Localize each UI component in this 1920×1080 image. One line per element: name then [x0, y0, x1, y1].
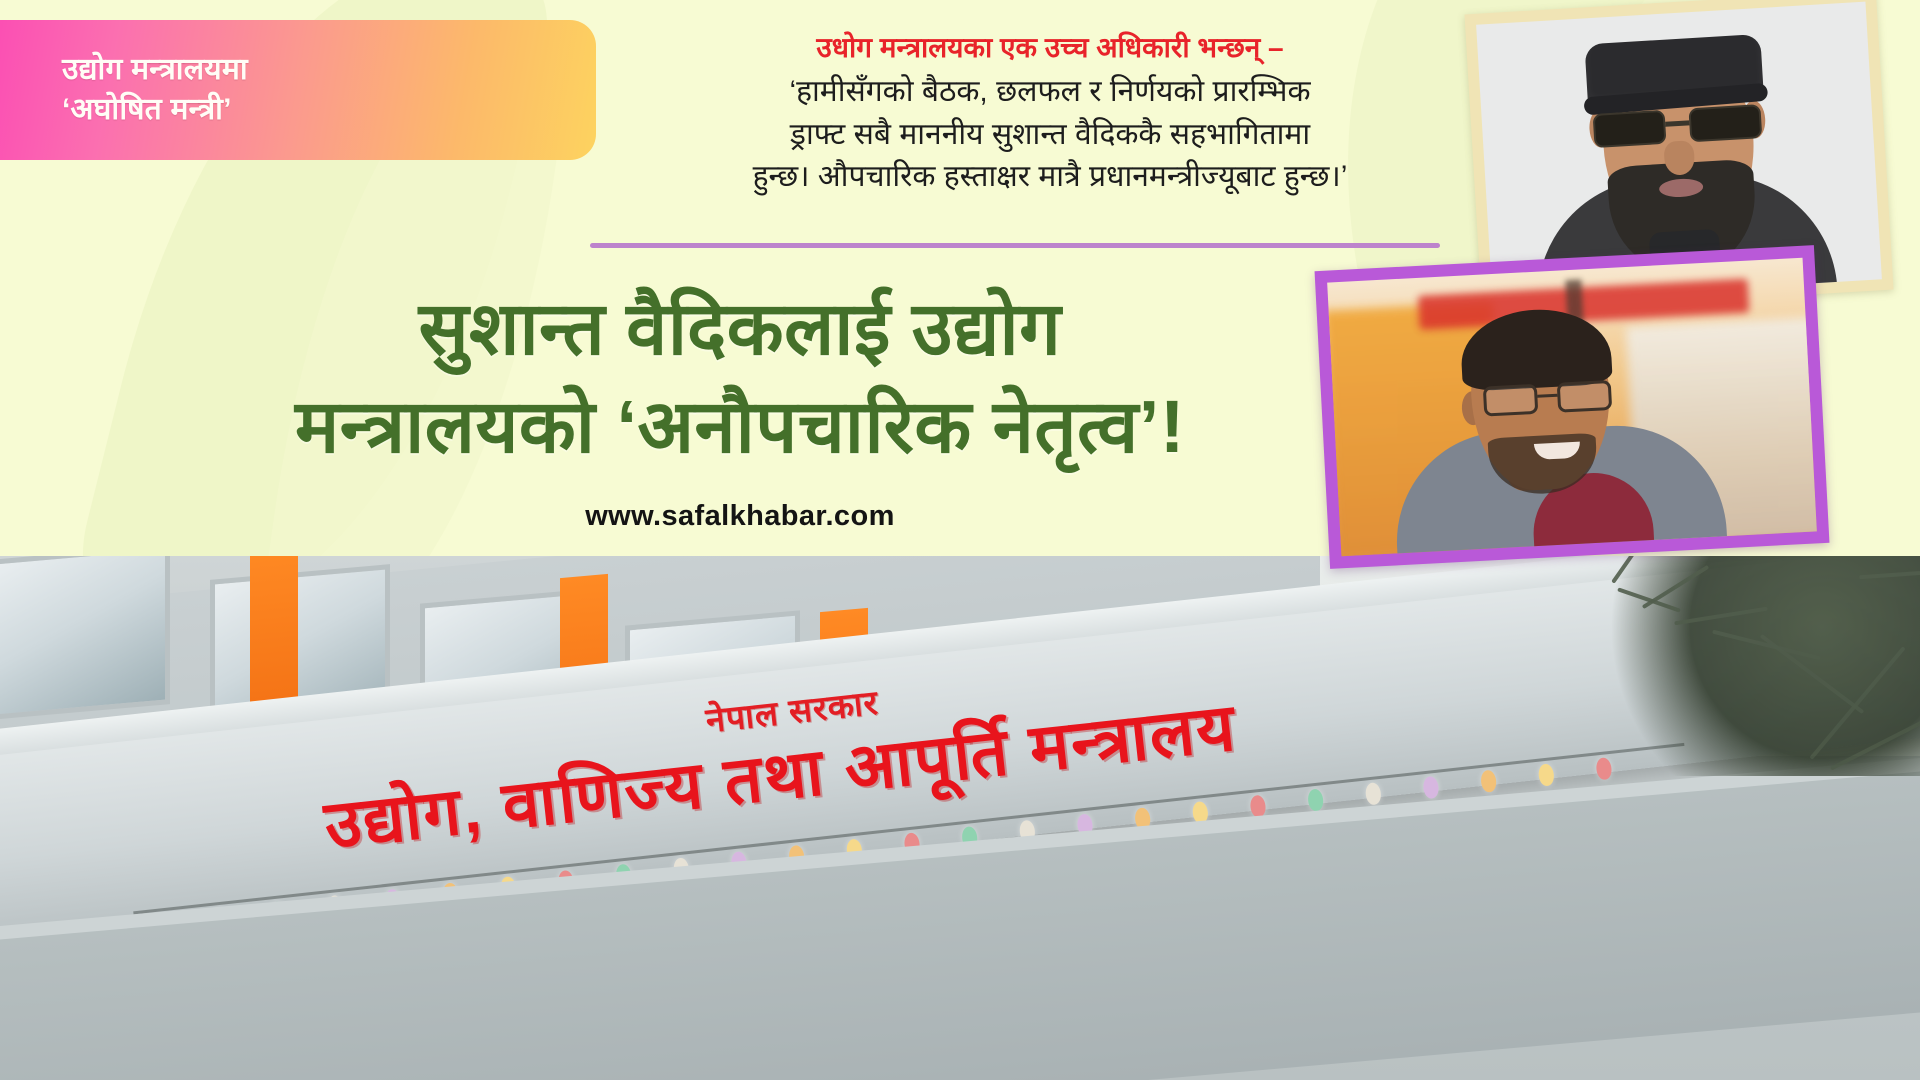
twig-shape	[1674, 607, 1767, 626]
twig-shape	[1712, 630, 1821, 661]
glasses-bridge	[1665, 120, 1689, 126]
lens-left	[1483, 384, 1538, 417]
twig-shape	[1859, 563, 1920, 579]
twig-shape	[1809, 646, 1905, 760]
dhaka-topi-hat	[1584, 34, 1763, 106]
photo-minister	[1315, 245, 1830, 569]
topic-badge: उद्योग मन्त्रालयमा ‘अघोषित मन्त्री’	[0, 20, 596, 160]
photo-minister-image	[1327, 258, 1817, 557]
quote-block: उधोग मन्त्रालयका एक उच्च अधिकारी भन्छन् …	[620, 30, 1480, 199]
lens-right	[1557, 380, 1612, 413]
window	[0, 556, 170, 720]
badge-line-2: ‘अघोषित मन्त्री’	[62, 90, 596, 130]
twig-shape	[1760, 634, 1865, 714]
light-bulb-icon	[1480, 769, 1497, 792]
news-poster: उद्योग मन्त्रालयमा ‘अघोषित मन्त्री’ उधोग…	[0, 0, 1920, 1080]
quote-line-1: ‘हामीसँगको बैठक, छलफल र निर्णयको प्रारम्…	[620, 71, 1480, 114]
twig-shape	[1830, 693, 1920, 770]
glasses-bridge	[1537, 394, 1557, 398]
light-bulb-icon	[1365, 782, 1382, 805]
lens-left	[1593, 110, 1667, 148]
tree-foliage	[1570, 556, 1920, 776]
horizontal-divider	[590, 243, 1440, 248]
badge-line-1: उद्योग मन्त्रालयमा	[62, 50, 596, 90]
website-url: www.safalkhabar.com	[120, 500, 1360, 533]
light-bulb-icon	[1307, 788, 1324, 811]
quote-line-3: हुन्छ। औपचारिक हस्ताक्षर मात्रै प्रधानमन…	[620, 156, 1480, 199]
page-title: सुशान्त वैदिकलाई उद्योग मन्त्रालयको ‘अनौ…	[120, 280, 1360, 475]
headline-line-1: सुशान्त वैदिकलाई उद्योग	[120, 280, 1360, 378]
light-bulb-icon	[1422, 776, 1439, 799]
headline-line-2: मन्त्रालयको ‘अनौपचारिक नेतृत्व’!	[120, 378, 1360, 476]
quote-line-2: ड्राफ्ट सबै माननीय सुशान्त वैदिककै सहभाग…	[620, 114, 1480, 157]
photo-ministry-building: नेपाल सरकार उद्योग, वाणिज्य तथा आपूर्ति …	[0, 556, 1920, 1080]
twig-shape	[1611, 556, 1649, 584]
lens-right	[1688, 104, 1762, 142]
quote-kicker: उधोग मन्त्रालयका एक उच्च अधिकारी भन्छन् …	[620, 30, 1480, 65]
light-bulb-icon	[1538, 763, 1555, 786]
